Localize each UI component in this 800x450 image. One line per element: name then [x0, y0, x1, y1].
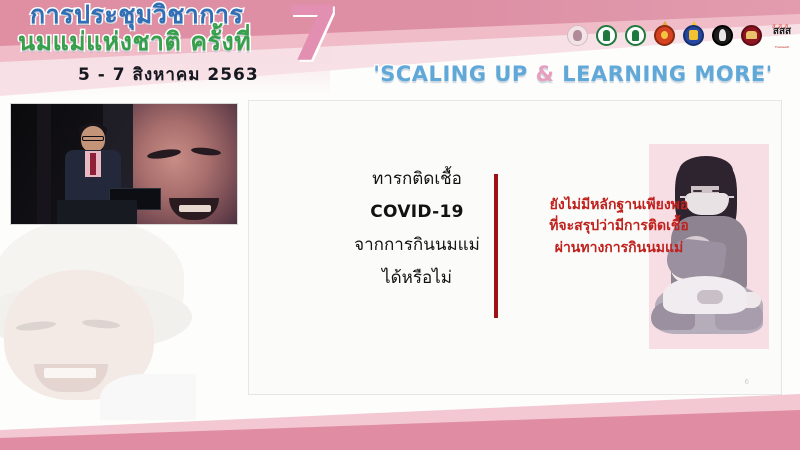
stage-curtain [37, 104, 51, 225]
tagline-ampersand: & [536, 62, 555, 86]
conference-tagline: 'SCALING UP & LEARNING MORE' [358, 62, 788, 86]
speaker-podium [57, 200, 137, 225]
logo-thaihealth-sss-icon: ส.ส.ส. สสส ThaiHealth [769, 22, 795, 48]
logo-black-circular-institute-icon [711, 22, 735, 48]
mother-hand [697, 290, 723, 304]
speaker-figure [63, 126, 123, 225]
slide-panel: ทารกติดเชื้อ COVID-19 จากการกินนมแม่ ได้… [248, 100, 782, 395]
thaihealth-sub-text: ThaiHealth [769, 45, 795, 49]
answer-line-3: ผ่านทางการกินนมแม่ [503, 238, 735, 259]
conference-edition-number: 7 [286, 0, 339, 72]
speaker-glasses [82, 136, 104, 141]
slide-screenshot: การประชุมวิชาการ นมแม่แห่งชาติ ครั้งที่ … [0, 0, 800, 450]
question-line-3: จากการกินนมแม่ [327, 229, 507, 262]
logo-dark-red-circular-university-icon [740, 22, 764, 48]
conference-title-line1: การประชุมวิชาการ [30, 2, 318, 28]
conference-title-line2: นมแม่แห่งชาติ ครั้งที่ [18, 29, 318, 55]
question-line-1: ทารกติดเชื้อ [327, 163, 507, 196]
logo-royal-emblem-blue-icon [682, 22, 706, 48]
question-line-2: COVID-19 [327, 196, 507, 229]
thaihealth-thai-text: สสส [769, 27, 795, 37]
speaker-necktie [90, 153, 96, 175]
stage-baby-teeth [179, 205, 211, 212]
conference-date: 5 - 7 สิงหาคม 2563 [78, 61, 318, 88]
question-text-block: ทารกติดเชื้อ COVID-19 จากการกินนมแม่ ได้… [327, 163, 507, 296]
background-photo-smiling-child [0, 224, 196, 420]
logo-ministry-of-public-health-green-2-icon [624, 22, 648, 48]
speaker-presentation-video [10, 103, 238, 225]
question-line-4: ได้หรือไม่ [327, 262, 507, 295]
child-shirt [100, 374, 196, 420]
logo-ministry-of-public-health-green-1-icon [595, 22, 619, 48]
answer-line-1: ยังไม่มีหลักฐานเพียงพอ [503, 195, 735, 216]
answer-line-2: ที่จะสรุปว่ามีการติดเชื้อ [503, 216, 735, 237]
conference-title-block: การประชุมวิชาการ นมแม่แห่งชาติ ครั้งที่ … [18, 2, 318, 88]
logo-breastfeeding-foundation-icon [566, 22, 590, 48]
logo-royal-emblem-orange-icon [653, 22, 677, 48]
slide-page-number: 6 [745, 378, 749, 386]
answer-text-block: ยังไม่มีหลักฐานเพียงพอ ที่จะสรุปว่ามีการ… [503, 195, 735, 259]
vertical-red-divider [494, 174, 498, 318]
sponsor-logos: ส.ส.ส. สสส ThaiHealth [566, 22, 795, 48]
child-teeth [44, 368, 96, 378]
tagline-part-before: 'SCALING UP [373, 62, 535, 86]
tagline-part-after: LEARNING MORE' [554, 62, 772, 86]
mother-eye-left [693, 190, 702, 192]
